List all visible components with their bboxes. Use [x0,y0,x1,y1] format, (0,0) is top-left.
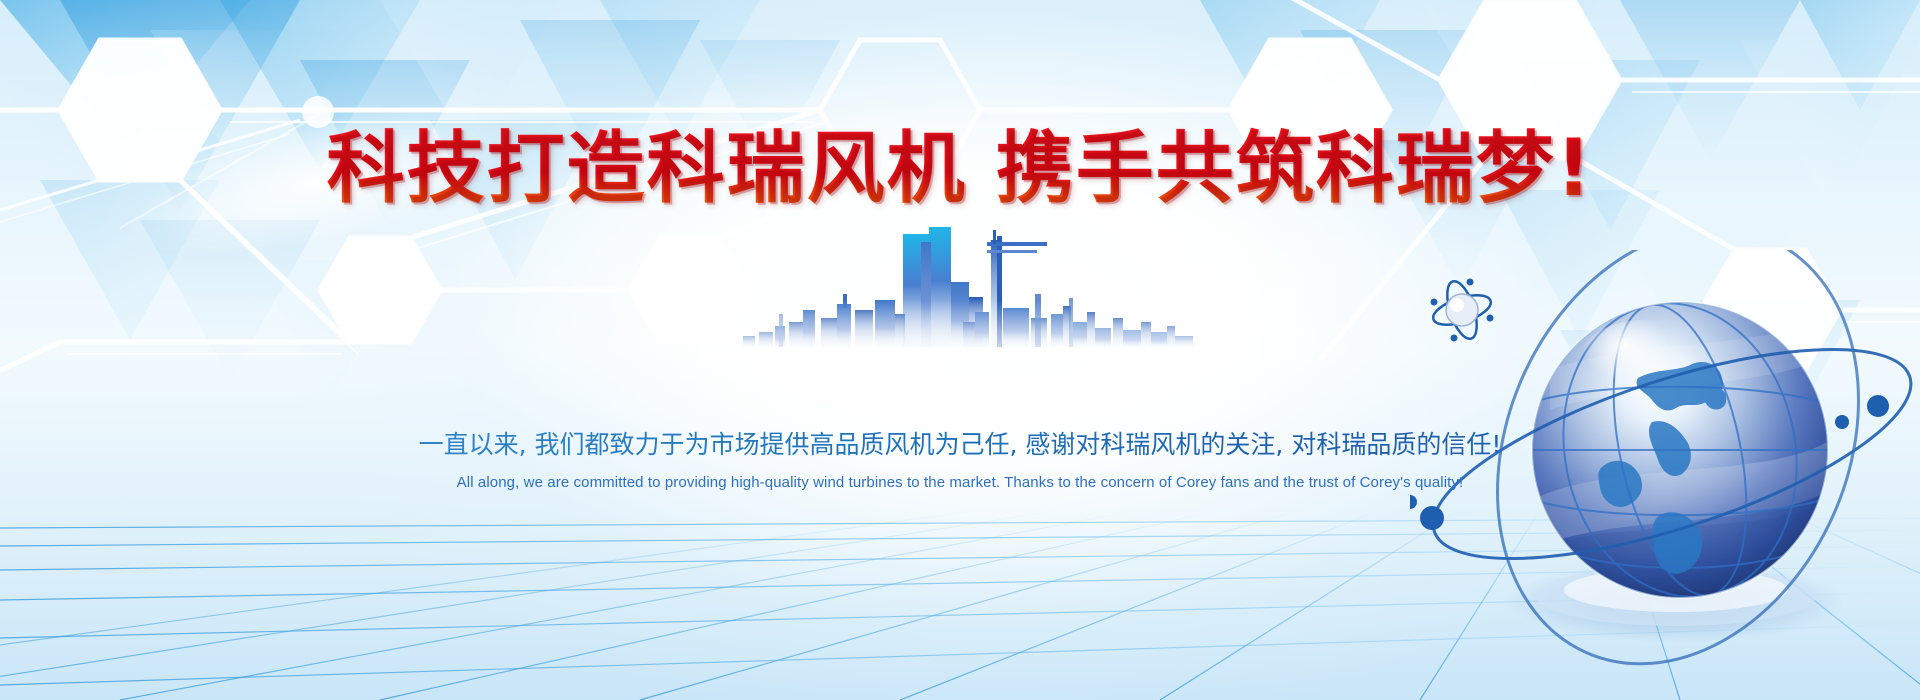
banner-subtitle-chinese: 一直以来, 我们都致力于为市场提供高品质风机为己任, 感谢对科瑞风机的关注, 对… [0,430,1920,460]
promo-banner: 科技打造科瑞风机 携手共筑科瑞梦! 一直以来, 我们都致力于为市场提供高品质风机… [0,0,1920,700]
banner-subtitle-english: All along, we are committed to providing… [0,474,1920,491]
banner-text-content: 科技打造科瑞风机 携手共筑科瑞梦! 一直以来, 我们都致力于为市场提供高品质风机… [0,0,1920,700]
banner-headline-text: 科技打造科瑞风机 携手共筑科瑞梦! [327,124,1594,214]
banner-headline: 科技打造科瑞风机 携手共筑科瑞梦! [0,130,1920,208]
